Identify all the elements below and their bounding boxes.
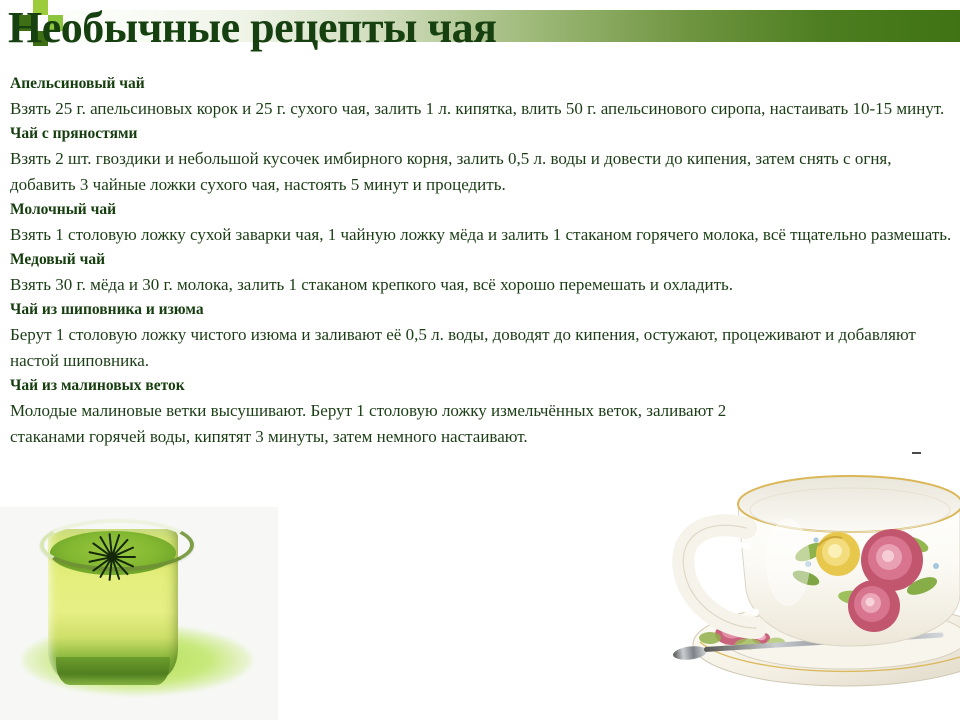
rose-teacup-photo: [660, 466, 960, 720]
recipe-text: Взять 25 г. апельсиновых корок и 25 г. с…: [10, 96, 954, 122]
recipe-item-spices: Чай с пряностями Взять 2 шт. гвоздики и …: [10, 122, 954, 198]
recipe-list: Апельсиновый чай Взять 25 г. апельсиновы…: [10, 72, 954, 450]
recipe-heading: Медовый чай: [10, 248, 954, 272]
page-title: Необычные рецепты чая: [8, 6, 496, 50]
recipe-heading: Молочный чай: [10, 198, 954, 222]
stray-hyphen-artifact: [912, 452, 921, 454]
recipe-text-line: стаканами горячей воды, кипятят 3 минуты…: [10, 424, 954, 450]
recipe-heading: Чай из малиновых веток: [10, 374, 954, 398]
slide-root: { "slide": { "title": "Необычные рецепты…: [0, 0, 960, 720]
recipe-text-line-truncated: Молодые малиновые ветки высушивают. Беру…: [10, 398, 745, 424]
recipe-item-milk: Молочный чай Взять 1 столовую ложку сухо…: [10, 198, 954, 248]
green-tea-glass-photo: [0, 507, 278, 720]
floating-tea-leaves: [84, 543, 144, 573]
recipe-item-honey: Медовый чай Взять 30 г. мёда и 30 г. мол…: [10, 248, 954, 298]
recipe-text: Взять 2 шт. гвоздики и небольшой кусочек…: [10, 146, 954, 198]
recipe-text: Берут 1 столовую ложку чистого изюма и з…: [10, 322, 954, 374]
slide-header: Необычные рецепты чая: [0, 0, 960, 62]
recipe-text: Взять 1 столовую ложку сухой заварки чая…: [10, 222, 954, 248]
glass-base: [56, 657, 170, 685]
recipe-heading: Чай с пряностями: [10, 122, 954, 146]
recipe-item-rosehip-raisin: Чай из шиповника и изюма Берут 1 столову…: [10, 298, 954, 374]
recipe-item-raspberry-branches: Чай из малиновых веток Молодые малиновые…: [10, 374, 954, 450]
recipe-heading: Чай из шиповника и изюма: [10, 298, 954, 322]
recipe-item-orange: Апельсиновый чай Взять 25 г. апельсиновы…: [10, 72, 954, 122]
recipe-heading: Апельсиновый чай: [10, 72, 954, 96]
recipe-text: Взять 30 г. мёда и 30 г. молока, залить …: [10, 272, 954, 298]
